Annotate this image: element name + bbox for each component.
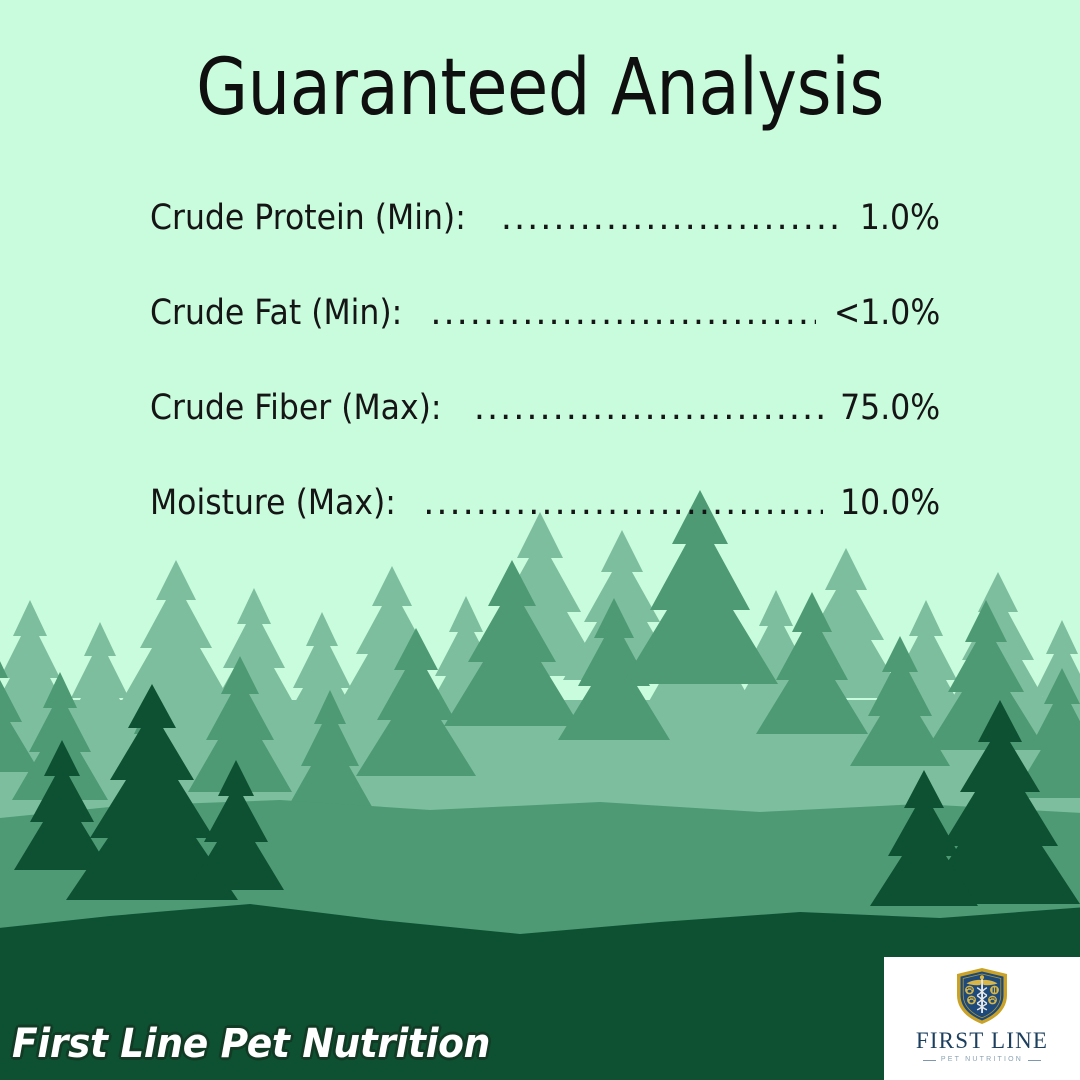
guaranteed-analysis-list: Crude Protein (Min): ...................…	[150, 198, 940, 578]
analysis-row-leader-dots: ..............................	[501, 198, 845, 238]
analysis-row-leader-dots: .....................................	[423, 483, 823, 523]
logo-dash-right	[1028, 1060, 1041, 1061]
analysis-row-label: Moisture (Max):	[150, 483, 396, 523]
analysis-row-label: Crude Fiber (Max):	[150, 388, 442, 428]
analysis-row: Crude Fat (Min): .......................…	[150, 293, 940, 388]
brand-watermark: First Line Pet Nutrition	[12, 1022, 490, 1066]
analysis-row-leader-dots: ....................................	[430, 293, 815, 333]
shield-caduceus-icon	[955, 967, 1009, 1025]
analysis-row-leader-dots: ................................	[474, 388, 823, 428]
analysis-row: Moisture (Max): ........................…	[150, 483, 940, 578]
analysis-row: Crude Fiber (Max): .....................…	[150, 388, 940, 483]
logo-subtitle: PET NUTRITION	[941, 1056, 1023, 1064]
brand-logo-card: FIRST LINE PET NUTRITION	[884, 957, 1080, 1080]
poster-canvas: Guaranteed Analysis Crude Protein (Min):…	[0, 0, 1080, 1080]
analysis-row-label: Crude Protein (Min):	[150, 198, 466, 238]
analysis-row-value: 75.0%	[836, 388, 940, 428]
logo-dash-left	[923, 1060, 936, 1061]
logo-subtitle-row: PET NUTRITION	[923, 1056, 1041, 1064]
analysis-row-value: 10.0%	[836, 483, 940, 523]
analysis-row-label: Crude Fat (Min):	[150, 293, 402, 333]
analysis-row-value: <1.0%	[830, 293, 940, 333]
page-title: Guaranteed Analysis	[76, 42, 1005, 134]
analysis-row: Crude Protein (Min): ...................…	[150, 198, 940, 293]
logo-wordmark: FIRST LINE	[916, 1029, 1048, 1053]
analysis-row-value: 1.0%	[856, 198, 940, 238]
